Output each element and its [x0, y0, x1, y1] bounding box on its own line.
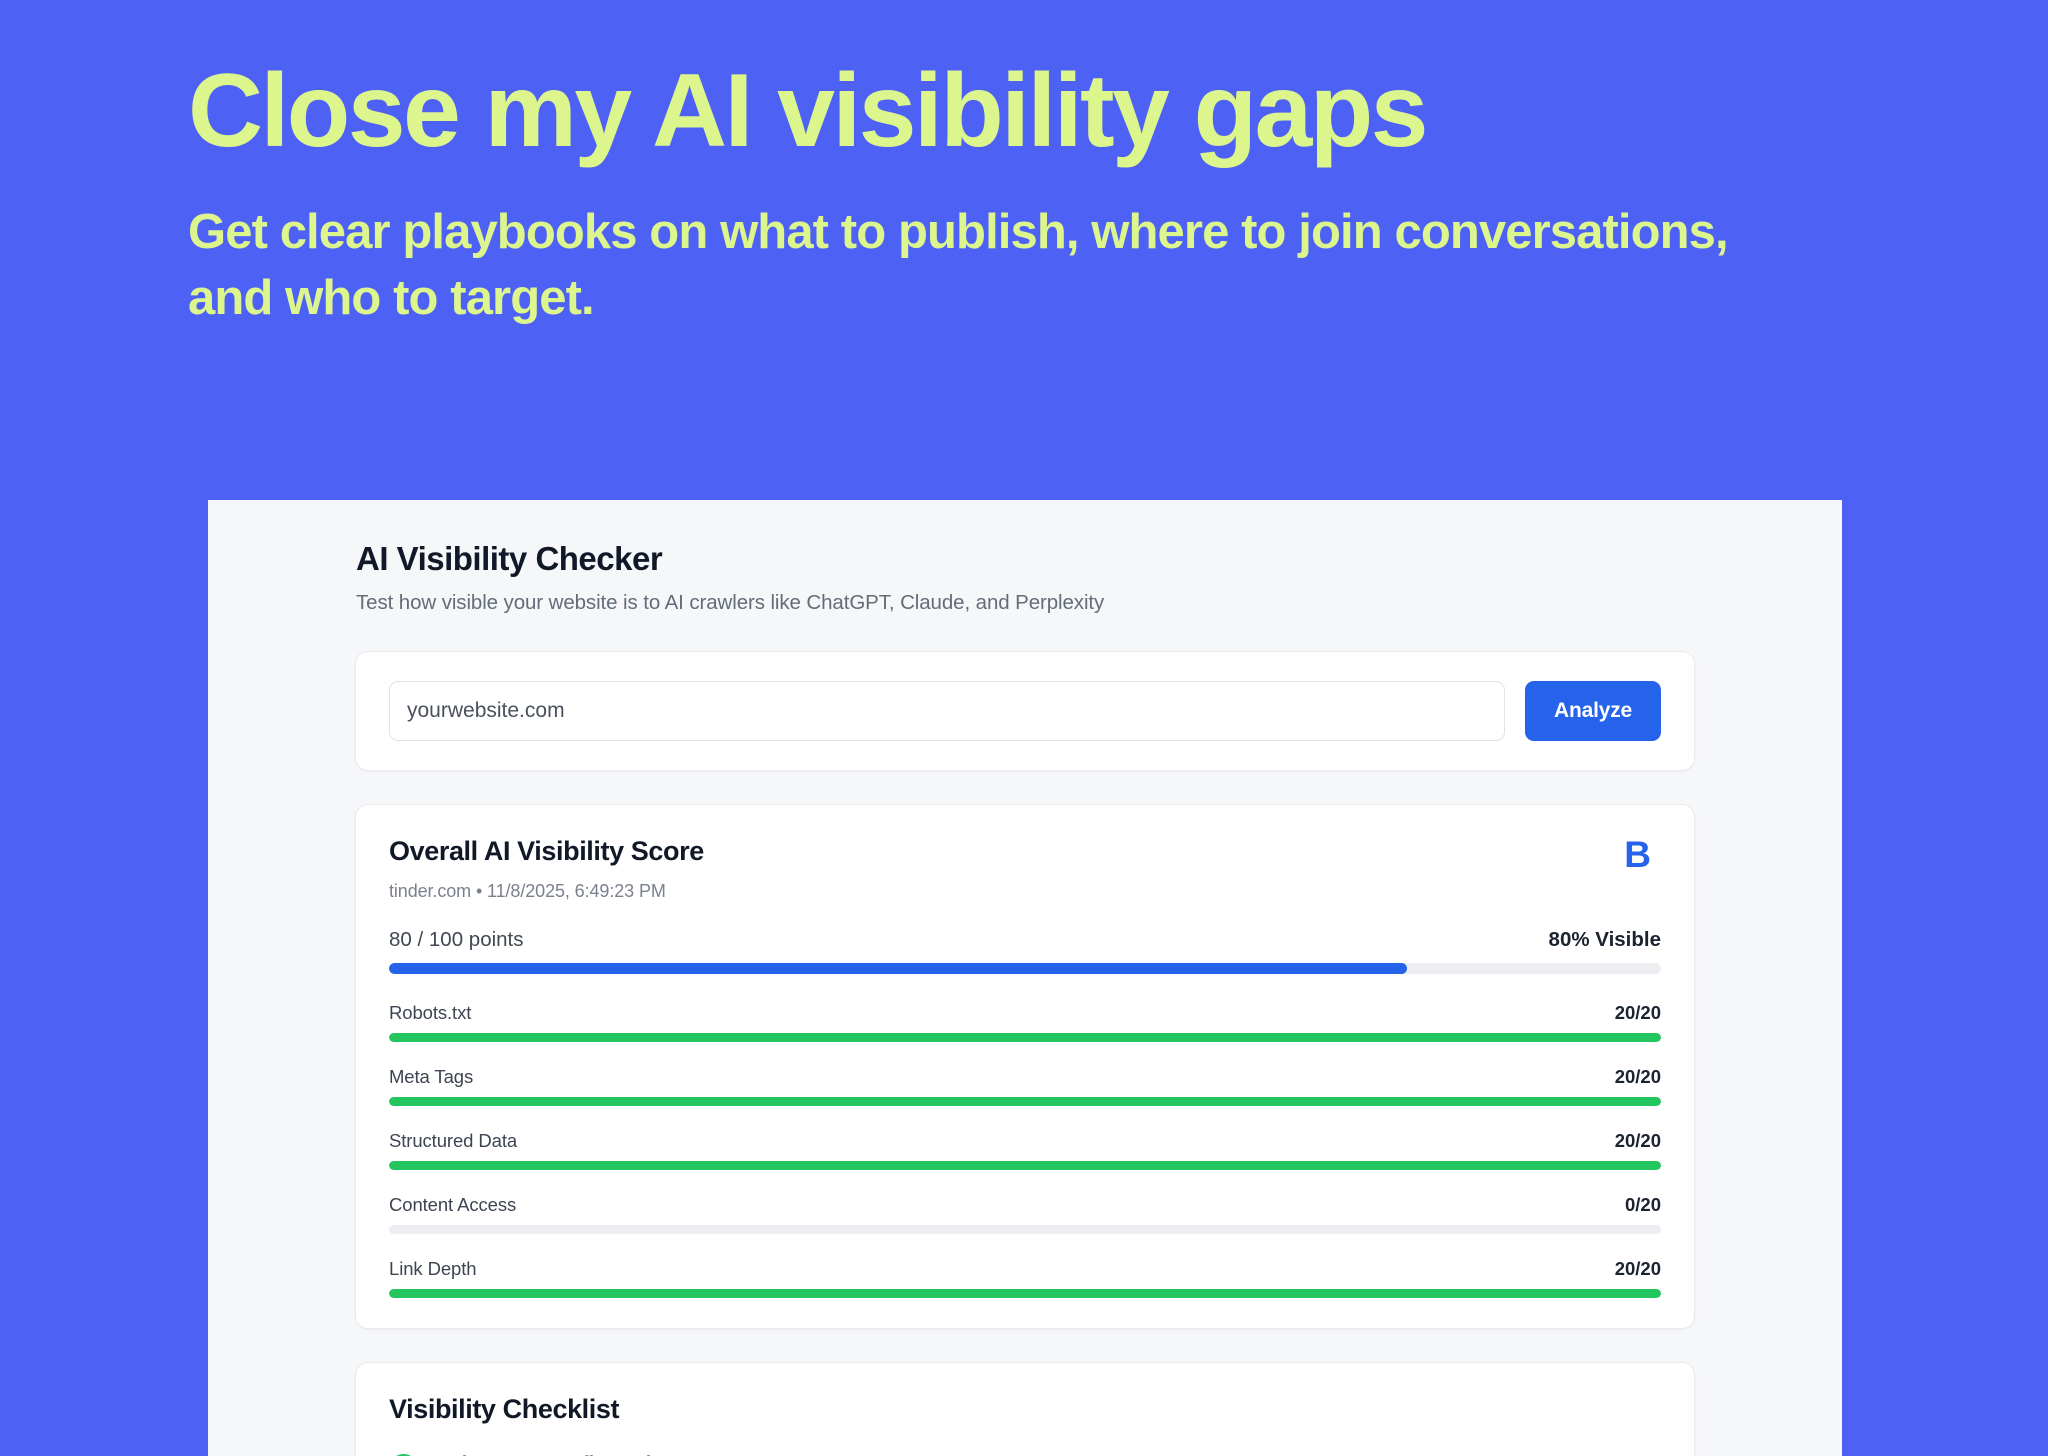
metric-progress-fill — [389, 1161, 1661, 1170]
score-card-header: Overall AI Visibility Score tinder.com •… — [389, 836, 1661, 902]
visibility-checklist-card: Visibility Checklist Robots.txt Configur… — [355, 1362, 1695, 1456]
metric-progress-track — [389, 1161, 1661, 1170]
overall-score-card: Overall AI Visibility Score tinder.com •… — [355, 804, 1695, 1329]
search-card: Analyze — [355, 651, 1695, 771]
score-card-title: Overall AI Visibility Score — [389, 836, 704, 867]
page-subtitle: Test how visible your website is to AI c… — [355, 591, 1695, 615]
poster-root: Close my AI visibility gaps Get clear pl… — [0, 0, 2048, 1456]
metric-progress-track — [389, 1097, 1661, 1106]
overall-progress-track — [389, 963, 1661, 974]
metric-row: Meta Tags20/20 — [389, 1066, 1661, 1106]
metric-label: Link Depth — [389, 1258, 476, 1280]
metric-header: Content Access0/20 — [389, 1194, 1661, 1216]
grade-badge: B — [1624, 836, 1661, 871]
hero-subtitle: Get clear playbooks on what to publish, … — [188, 200, 1808, 331]
score-visible-label: 80% Visible — [1549, 928, 1661, 952]
metric-row: Content Access0/20 — [389, 1194, 1661, 1234]
metric-label: Content Access — [389, 1194, 516, 1216]
metric-score: 20/20 — [1615, 1066, 1661, 1088]
score-points-label: 80 / 100 points — [389, 928, 524, 952]
page-title: AI Visibility Checker — [355, 540, 1695, 578]
metric-label: Structured Data — [389, 1130, 517, 1152]
score-summary-row: 80 / 100 points 80% Visible — [389, 928, 1661, 952]
hero-title: Close my AI visibility gaps — [188, 56, 1868, 166]
score-card-meta: tinder.com • 11/8/2025, 6:49:23 PM — [389, 881, 704, 902]
metric-progress-fill — [389, 1097, 1661, 1106]
metric-header: Link Depth20/20 — [389, 1258, 1661, 1280]
metric-score: 20/20 — [1615, 1130, 1661, 1152]
metric-row: Robots.txt20/20 — [389, 1002, 1661, 1042]
website-url-input[interactable] — [389, 681, 1505, 741]
overall-progress-fill — [389, 963, 1407, 974]
metric-label: Robots.txt — [389, 1002, 471, 1024]
metric-progress-track — [389, 1225, 1661, 1234]
metric-label: Meta Tags — [389, 1066, 473, 1088]
metric-row: Structured Data20/20 — [389, 1130, 1661, 1170]
metric-score: 20/20 — [1615, 1258, 1661, 1280]
metric-progress-fill — [389, 1033, 1661, 1042]
metric-header: Robots.txt20/20 — [389, 1002, 1661, 1024]
hero-section: Close my AI visibility gaps Get clear pl… — [188, 56, 1868, 332]
metric-header: Structured Data20/20 — [389, 1130, 1661, 1152]
checklist-title: Visibility Checklist — [389, 1394, 1661, 1425]
metric-score: 0/20 — [1625, 1194, 1661, 1216]
metric-progress-track — [389, 1033, 1661, 1042]
analyze-button[interactable]: Analyze — [1525, 681, 1661, 741]
metric-score: 20/20 — [1615, 1002, 1661, 1024]
metric-progress-fill — [389, 1289, 1661, 1298]
metric-list: Robots.txt20/20Meta Tags20/20Structured … — [389, 1002, 1661, 1298]
metric-row: Link Depth20/20 — [389, 1258, 1661, 1298]
metric-header: Meta Tags20/20 — [389, 1066, 1661, 1088]
app-screenshot-panel: AI Visibility Checker Test how visible y… — [208, 500, 1842, 1456]
metric-progress-track — [389, 1289, 1661, 1298]
